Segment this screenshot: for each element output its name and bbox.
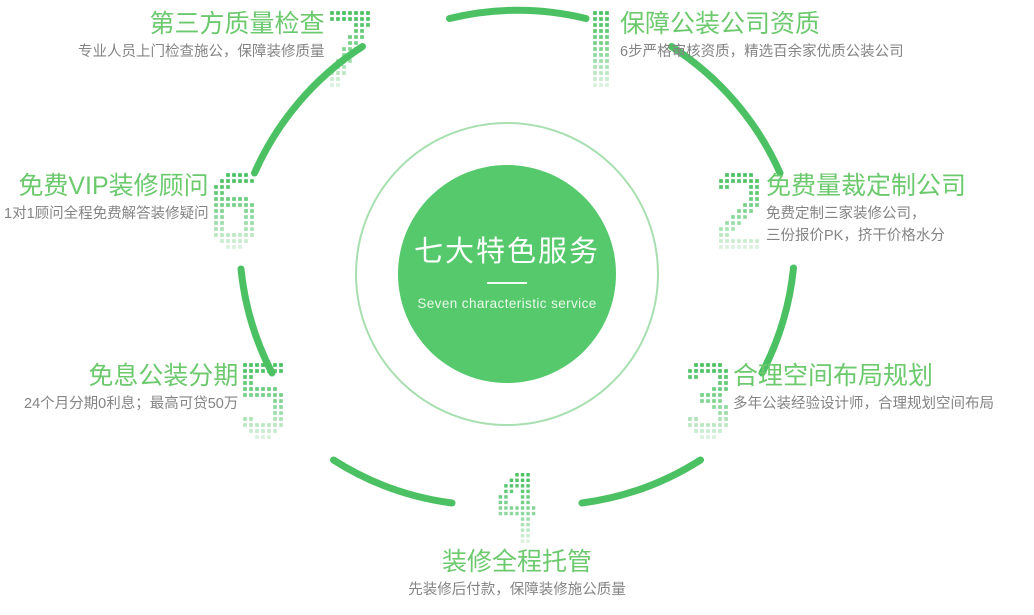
center-hub: 七大特色服务 Seven characteristic service (398, 165, 616, 383)
service-item-6[interactable]: 免费VIP装修顾问 1对1顾问全程免费解答装修疑问 (4, 172, 259, 250)
service-title-6: 免费VIP装修顾问 (18, 172, 208, 200)
numeral-5-icon (238, 362, 288, 440)
numeral-2-icon (712, 172, 766, 250)
arc-segment-2-3 (762, 268, 794, 373)
service-desc-5-line-1: 24个月分期0利息；最高可贷50万 (24, 393, 238, 415)
service-desc-1-line-1: 6步严格审核资质，精选百余家优质公装公司 (620, 41, 904, 63)
service-item-1[interactable]: 保障公装公司资质 6步严格审核资质，精选百余家优质公装公司 (576, 10, 904, 88)
service-desc-7-line-1: 专业人员上门检查施公，保障装修质量 (78, 41, 325, 63)
service-item-4[interactable]: 装修全程托管 先装修后付款，保障装修施公质量 (407, 472, 627, 601)
arc-segment-7-1 (450, 10, 587, 18)
service-title-2: 免费量裁定制公司 (766, 172, 966, 200)
numeral-6-icon (209, 172, 259, 250)
service-desc-4-line-1: 先装修后付款，保障装修施公质量 (408, 579, 626, 601)
numeral-7-icon (325, 10, 375, 88)
service-title-1: 保障公装公司资质 (620, 10, 904, 38)
service-title-5: 免息公装分期 (88, 362, 238, 390)
service-item-5[interactable]: 免息公装分期 24个月分期0利息；最高可贷50万 (24, 362, 288, 440)
numeral-3-icon (683, 362, 733, 440)
center-subtitle: Seven characteristic service (417, 296, 596, 311)
service-desc-3-line-1: 多年公装经验设计师，合理规划空间布局 (733, 393, 994, 415)
service-title-4: 装修全程托管 (442, 548, 592, 576)
numeral-4-icon (493, 472, 541, 544)
service-item-3[interactable]: 合理空间布局规划 多年公装经验设计师，合理规划空间布局 (683, 362, 994, 440)
numeral-1-icon (576, 10, 620, 88)
service-desc-2-line-1: 免费定制三家装修公司， (766, 203, 966, 225)
service-desc-2-line-2: 三份报价PK，挤干价格水分 (766, 225, 966, 247)
service-item-7[interactable]: 第三方质量检查 专业人员上门检查施公，保障装修质量 (78, 10, 375, 88)
service-item-2[interactable]: 免费量裁定制公司 免费定制三家装修公司， 三份报价PK，挤干价格水分 (712, 172, 966, 250)
arc-segment-5-6 (241, 269, 272, 373)
service-desc-6-line-1: 1对1顾问全程免费解答装修疑问 (4, 203, 209, 225)
seven-services-infographic: 七大特色服务 Seven characteristic service 保障公装… (0, 0, 1034, 615)
center-title: 七大特色服务 (414, 237, 600, 269)
service-title-3: 合理空间布局规划 (733, 362, 994, 390)
center-divider (487, 282, 527, 284)
service-title-7: 第三方质量检查 (149, 10, 324, 38)
